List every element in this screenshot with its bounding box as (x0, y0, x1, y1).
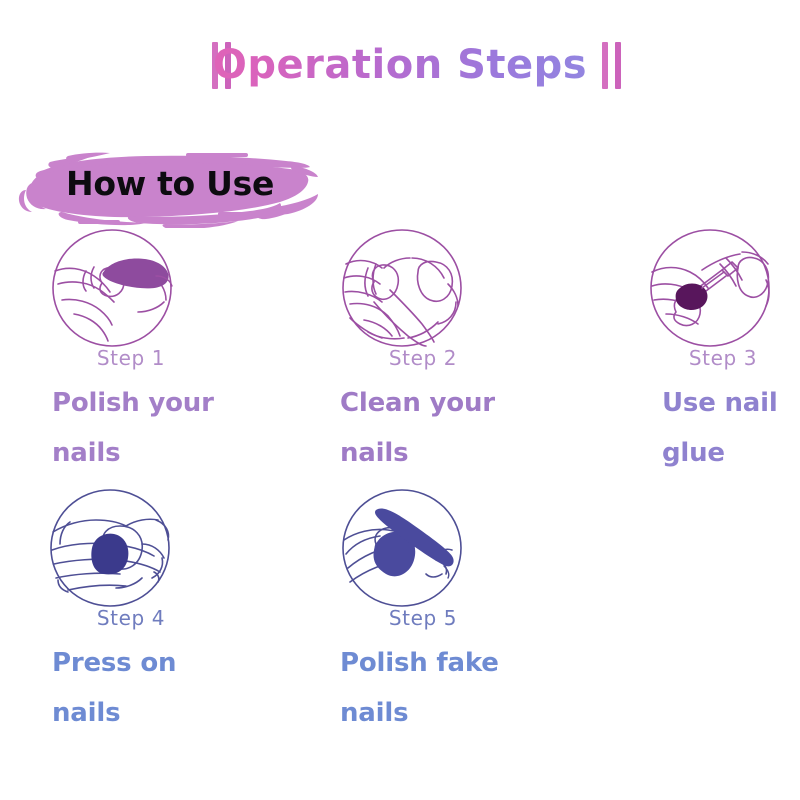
step-4-caption: Press on nails (52, 638, 176, 738)
step-5-caption: Polish fake nails (340, 638, 499, 738)
step-1-illustration (38, 228, 188, 356)
step-2-label: Step 2 (348, 346, 498, 370)
step-card-2: Step 2 Clean your nails (330, 228, 570, 356)
hand-with-wipe-icon (330, 228, 480, 356)
header: Operation Steps (0, 36, 800, 98)
decorative-bar-icon (615, 42, 621, 89)
step-card-3: Step 3 Use nail glue (638, 228, 800, 356)
step-1-caption: Polish your nails (52, 378, 214, 478)
step-2-caption: Clean your nails (340, 378, 495, 478)
step-3-label: Step 3 (648, 346, 798, 370)
file-fake-nail-icon (330, 488, 480, 616)
step-1-label: Step 1 (56, 346, 206, 370)
hand-with-nail-file-icon (38, 228, 188, 356)
step-3-illustration (638, 228, 788, 356)
press-on-nail-icon (38, 488, 188, 616)
step-card-5: Step 5 Polish fake nails (330, 488, 570, 616)
page-title: Operation Steps (0, 36, 800, 94)
step-card-4: Step 4 Press on nails (38, 488, 278, 616)
step-5-label: Step 5 (348, 606, 498, 630)
step-3-caption: Use nail glue (662, 378, 778, 478)
title-decoration-bars-right (602, 42, 621, 89)
step-5-illustration (330, 488, 480, 616)
howto-label: How to Use (66, 164, 274, 203)
step-4-label: Step 4 (56, 606, 206, 630)
decorative-bar-icon (602, 42, 608, 89)
nail-glue-brush-icon (638, 228, 788, 356)
howto-banner: How to Use (18, 150, 328, 228)
step-card-1: Step 1 Polish your nails (38, 228, 278, 356)
step-2-illustration (330, 228, 480, 356)
step-4-illustration (38, 488, 188, 616)
